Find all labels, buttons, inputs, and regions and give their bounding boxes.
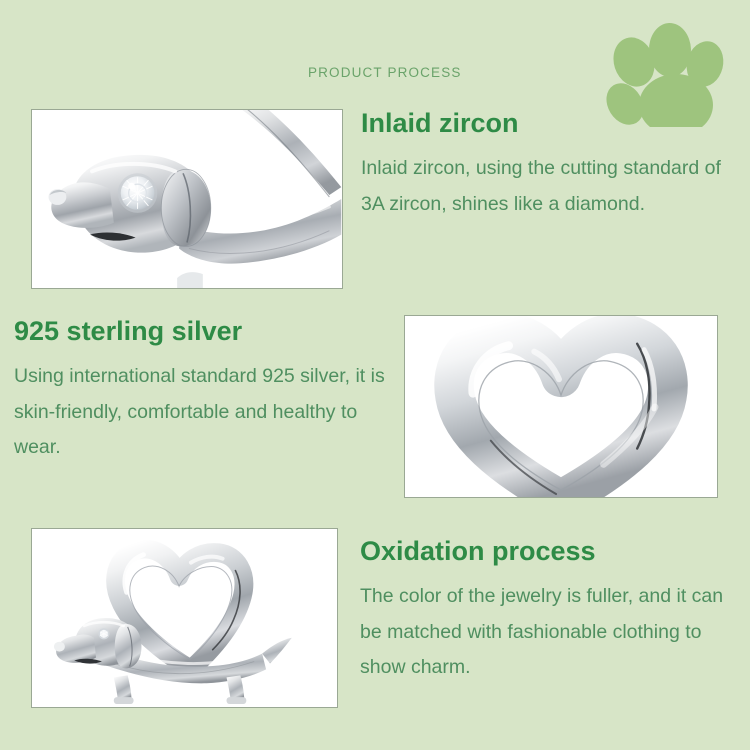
section-oxidation-process: Oxidation process The color of the jewel…	[360, 536, 734, 686]
product-photo-zircon-eye	[31, 109, 343, 289]
product-photo-full-pendant	[31, 528, 338, 708]
section-heading-inlaid-zircon: Inlaid zircon	[361, 108, 729, 138]
section-heading-sterling-silver: 925 sterling silver	[14, 316, 406, 346]
product-process-infographic: PRODUCT PROCESS	[0, 0, 750, 750]
section-sterling-silver: 925 sterling silver Using international …	[14, 316, 406, 466]
section-inlaid-zircon: Inlaid zircon Inlaid zircon, using the c…	[361, 108, 729, 222]
page-eyebrow-label: PRODUCT PROCESS	[308, 65, 462, 80]
product-photo-heart	[404, 315, 718, 498]
section-body-sterling-silver: Using international standard 925 silver,…	[14, 359, 406, 465]
section-body-inlaid-zircon: Inlaid zircon, using the cutting standar…	[361, 151, 729, 222]
section-heading-oxidation-process: Oxidation process	[360, 536, 734, 566]
section-body-oxidation-process: The color of the jewelry is fuller, and …	[360, 579, 734, 685]
